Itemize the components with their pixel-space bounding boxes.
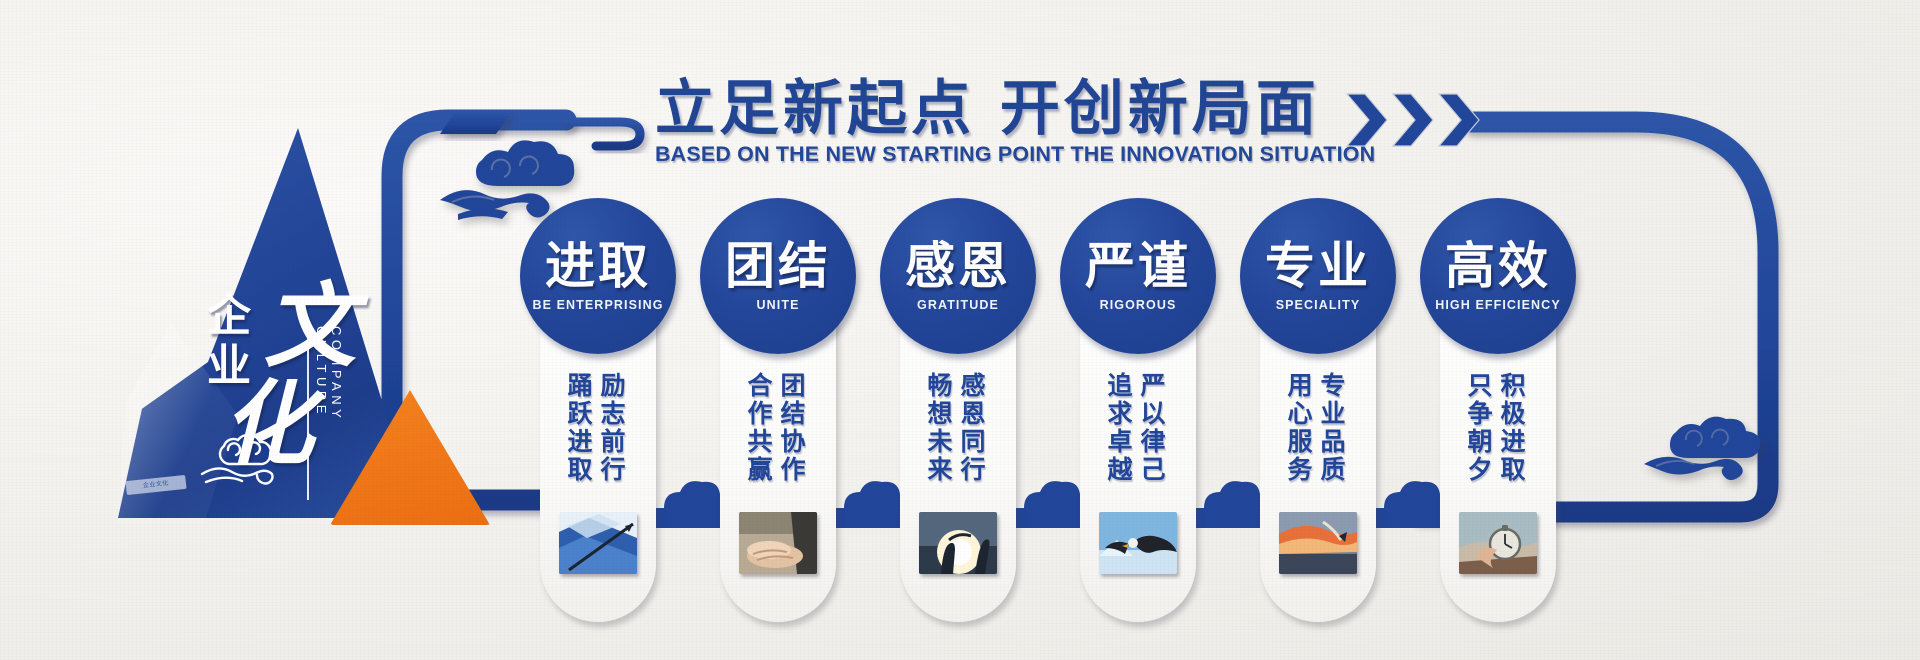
pill-slogan: 专业品质 用心服务	[1260, 372, 1376, 532]
pill-slogan: 积极进取 只争朝夕	[1440, 372, 1556, 532]
value-pill-row: 进取 BE ENTERPRISING 励志前行 踊跃进取	[0, 0, 1920, 660]
pill-slogan-right: 严以律己	[1138, 372, 1165, 532]
pill-subtitle: RIGOROUS	[1100, 298, 1177, 312]
value-pill-zhuanye[interactable]: 专业 SPECIALITY 专业品质 用心服务	[1260, 232, 1376, 622]
pill-head-circle: 感恩 GRATITUDE	[880, 198, 1036, 354]
pill-slogan: 感恩同行 畅想未来	[900, 372, 1016, 532]
pill-slogan: 励志前行 踊跃进取	[540, 372, 656, 532]
value-pill-gaoxiao[interactable]: 高效 HIGH EFFICIENCY 积极进取 只争朝夕	[1440, 232, 1556, 622]
pill-head-circle: 严谨 RIGOROUS	[1060, 198, 1216, 354]
pill-subtitle: GRATITUDE	[917, 298, 999, 312]
pill-slogan-left: 追求卓越	[1105, 372, 1132, 532]
pill-title: 专业	[1265, 241, 1371, 291]
pill-photo	[919, 512, 997, 574]
pill-subtitle: SPECIALITY	[1276, 298, 1361, 312]
pill-subtitle: HIGH EFFICIENCY	[1435, 298, 1561, 312]
value-pill-tuanjie[interactable]: 团结 UNITE 团结协作 合作共赢	[720, 232, 836, 622]
pill-slogan-right: 感恩同行	[958, 372, 985, 532]
pill-photo	[1099, 512, 1177, 574]
pill-title: 感恩	[905, 241, 1011, 291]
pill-head-circle: 进取 BE ENTERPRISING	[520, 198, 676, 354]
pill-slogan: 严以律己 追求卓越	[1080, 372, 1196, 532]
pill-subtitle: UNITE	[757, 298, 800, 312]
value-pill-ganen[interactable]: 感恩 GRATITUDE 感恩同行 畅想未来	[900, 232, 1016, 622]
pill-slogan-right: 专业品质	[1318, 372, 1345, 532]
pill-title: 团结	[725, 241, 831, 291]
pill-head-circle: 团结 UNITE	[700, 198, 856, 354]
pill-head-circle: 专业 SPECIALITY	[1240, 198, 1396, 354]
pill-title: 严谨	[1085, 241, 1191, 291]
pill-slogan-right: 励志前行	[598, 372, 625, 532]
pill-slogan-left: 踊跃进取	[565, 372, 592, 532]
pill-photo	[739, 512, 817, 574]
pill-slogan: 团结协作 合作共赢	[720, 372, 836, 532]
pill-head-circle: 高效 HIGH EFFICIENCY	[1420, 198, 1576, 354]
pill-slogan-left: 畅想未来	[925, 372, 952, 532]
pill-photo	[559, 512, 637, 574]
pill-title: 进取	[545, 241, 651, 291]
pill-title: 高效	[1445, 241, 1551, 291]
pill-slogan-right: 团结协作	[778, 372, 805, 532]
pill-slogan-left: 只争朝夕	[1465, 372, 1492, 532]
pill-photo	[1459, 512, 1537, 574]
culture-wall-scene: 企业 文 化 COMPANY CULTURE 企业文化 立足新起点 开创新局面 …	[0, 0, 1920, 660]
pill-slogan-left: 用心服务	[1285, 372, 1312, 532]
pill-photo	[1279, 512, 1357, 574]
value-pill-jinqu[interactable]: 进取 BE ENTERPRISING 励志前行 踊跃进取	[540, 232, 656, 622]
pill-subtitle: BE ENTERPRISING	[532, 298, 663, 312]
pill-slogan-right: 积极进取	[1498, 372, 1525, 532]
pill-slogan-left: 合作共赢	[745, 372, 772, 532]
value-pill-yanjin[interactable]: 严谨 RIGOROUS 严以律己 追求卓越	[1080, 232, 1196, 622]
